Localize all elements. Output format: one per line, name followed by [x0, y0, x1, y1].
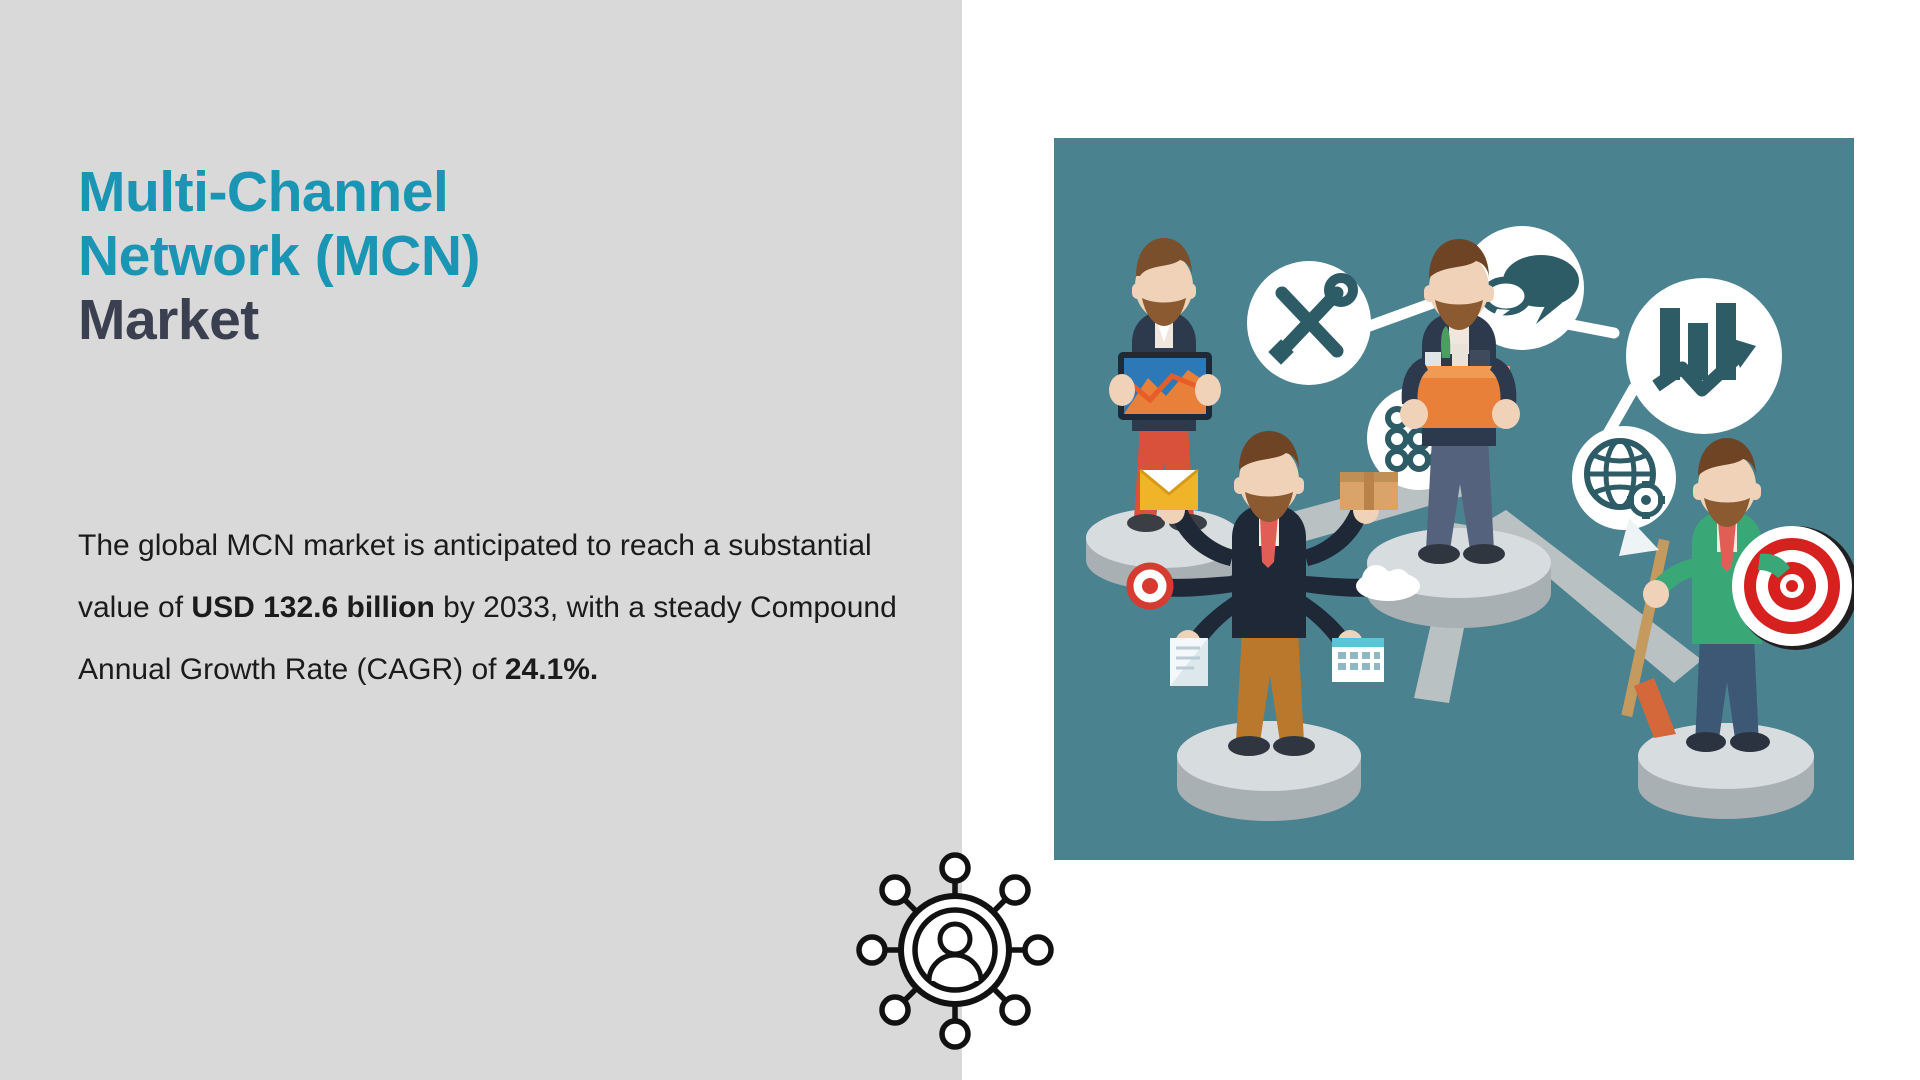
globe-gear-icon [1572, 426, 1676, 530]
body-highlight: 24.1%. [505, 653, 598, 686]
body-highlight: USD 132.6 billion [191, 591, 434, 624]
page-title: Multi-Channel Network (MCN) Market [78, 160, 938, 352]
heading-block: Multi-Channel Network (MCN) Market [78, 160, 938, 352]
document-prop [1170, 638, 1208, 686]
body-paragraph: The global MCN market is anticipated to … [78, 515, 938, 701]
calendar-prop [1332, 638, 1384, 682]
user-network-icon [855, 838, 1055, 1063]
title-line-2: Network (MCN) [78, 224, 938, 288]
body-rich-text: The global MCN market is anticipated to … [78, 529, 897, 686]
envelope-prop [1140, 470, 1198, 510]
title-line-1: Multi-Channel [78, 160, 938, 224]
title-line-3: Market [78, 288, 938, 352]
tools-icon [1247, 261, 1371, 385]
target-prop-left [1130, 566, 1170, 606]
multi-channel-network-illustration [1054, 138, 1854, 860]
bar-chart-growth-icon [1626, 278, 1782, 434]
package-prop [1340, 472, 1398, 510]
